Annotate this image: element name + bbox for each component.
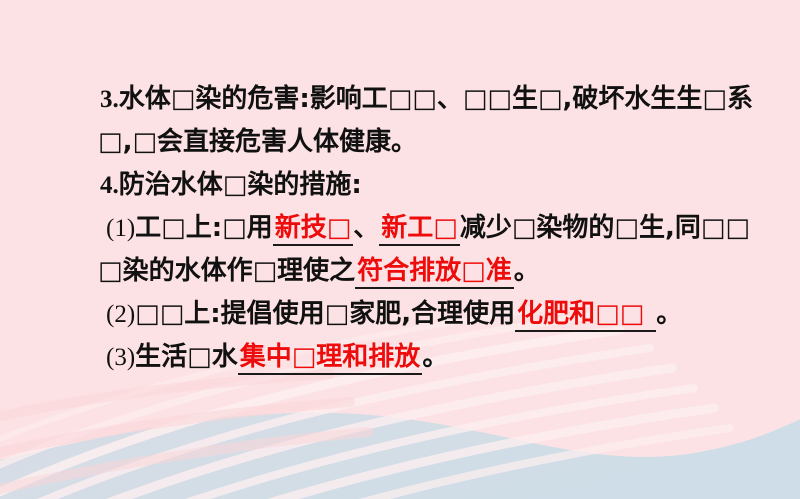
- slide-canvas: 3.水体□染的危害:影响工□□、□□生□,破坏水生生□系 □,□会直接危害人体健…: [0, 0, 800, 499]
- list-marker-2-paren: (2): [106, 301, 135, 328]
- text-line-item4-sub3: (3)生活□水集中□理和排放。: [0, 336, 800, 379]
- sub1b-post-text: 。: [514, 256, 540, 286]
- text-line-item4-sub1-part1: (1)工□上:□用新技□、新工□减少□染物的□生,同□□: [0, 207, 800, 250]
- list-marker-3-paren: (3): [106, 344, 135, 371]
- answer-blank-new-technology: 新技□: [273, 213, 354, 246]
- sub1b-pre-text: □染的水体作□理使之: [98, 256, 355, 286]
- answer-blank-new-process: 新工□: [379, 213, 460, 246]
- lesson-text-content: 3.水体□染的危害:影响工□□、□□生□,破坏水生生□系 □,□会直接危害人体健…: [0, 78, 800, 379]
- list-marker-3: 3.: [100, 86, 119, 113]
- text-line-item4-sub2: (2)□□上:提倡使用□家肥,合理使用化肥和□□。: [0, 293, 800, 336]
- answer-blank-centralized-treatment: 集中□理和排放: [238, 342, 423, 375]
- sub1-separator: 、: [353, 213, 379, 243]
- sub3-post-text: 。: [422, 342, 448, 372]
- text-line-item3-part1: 3.水体□染的危害:影响工□□、□□生□,破坏水生生□系: [0, 78, 800, 121]
- sub3-pre-text: 生活□水: [135, 342, 238, 372]
- list-marker-1-paren: (1): [106, 215, 135, 242]
- text-line-item4-sub1-part2: □染的水体作□理使之符合排放□准。: [0, 250, 800, 293]
- item3-text-line1: 水体□染的危害:影响工□□、□□生□,破坏水生生□系: [119, 84, 753, 114]
- answer-blank-meets-discharge-standard: 符合排放□准: [355, 256, 514, 289]
- sub1-pre-text: 工□上:□用: [135, 213, 273, 243]
- sub2-post-text: 。: [656, 299, 682, 329]
- sub2-pre-text: □□上:提倡使用□家肥,合理使用: [135, 299, 515, 329]
- sub1-post-text: 减少□染物的□生,同□□: [460, 213, 750, 243]
- answer-blank-fertilizer-and-pesticide: 化肥和□□: [515, 299, 656, 332]
- text-line-item3-part2: □,□会直接危害人体健康。: [0, 121, 800, 164]
- item4-heading-text: 防治水体□染的措施:: [119, 170, 362, 200]
- list-marker-4: 4.: [100, 172, 119, 199]
- text-line-item4-heading: 4.防治水体□染的措施:: [0, 164, 800, 207]
- item3-text-line2: □,□会直接危害人体健康。: [98, 127, 417, 157]
